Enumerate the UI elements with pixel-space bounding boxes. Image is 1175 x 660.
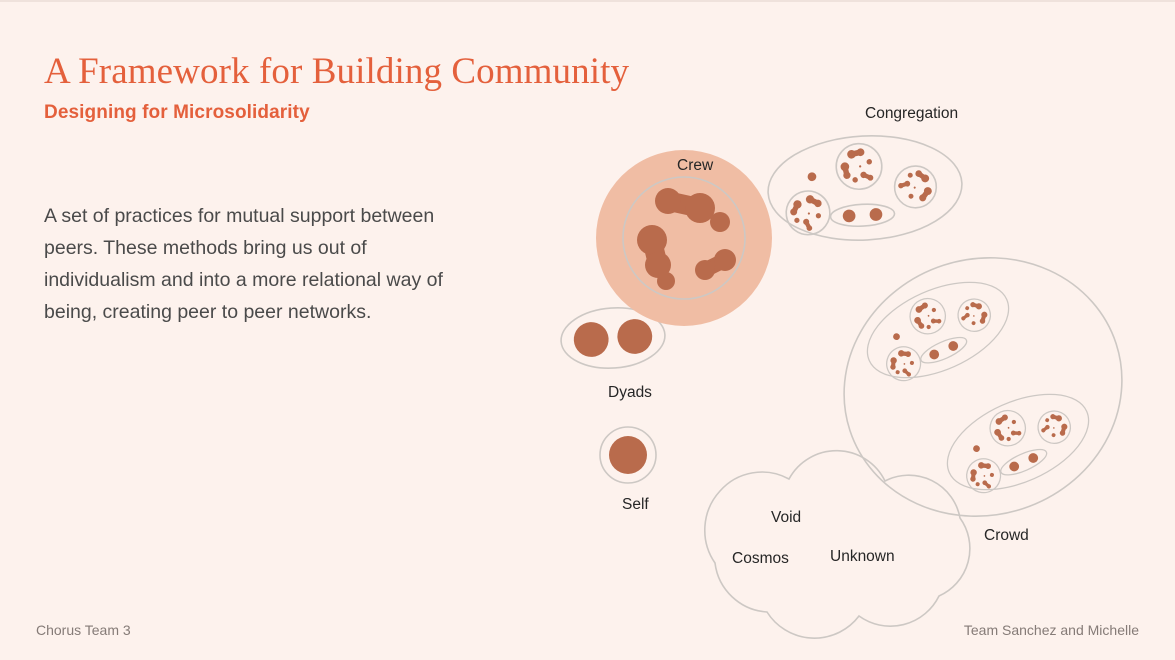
member-dot xyxy=(983,475,985,477)
member-dot xyxy=(1045,418,1050,423)
member-dot xyxy=(975,482,980,487)
member-pair xyxy=(1049,412,1063,423)
void-cloud-group xyxy=(705,451,970,638)
member-dot xyxy=(975,302,983,310)
crew-unit xyxy=(835,142,883,190)
slide-heading-block: A Framework for Building Community Desig… xyxy=(44,52,514,124)
member-pair xyxy=(897,349,911,360)
member-dot xyxy=(965,306,970,311)
member-dot xyxy=(869,208,882,221)
member-dot xyxy=(637,225,667,255)
member-dot xyxy=(573,321,610,358)
member-dot xyxy=(903,363,905,365)
member-dot xyxy=(1010,430,1017,437)
diagram-label-crew: Crew xyxy=(677,157,714,174)
member-dot xyxy=(1006,436,1012,442)
member-dot xyxy=(970,476,977,483)
member-dot xyxy=(859,165,861,167)
member-dot xyxy=(685,193,715,223)
member-dot xyxy=(866,159,872,165)
member-dot xyxy=(977,461,985,469)
crew-group xyxy=(596,150,772,326)
member-dot xyxy=(907,193,914,200)
void-cloud-outline xyxy=(705,451,970,638)
congregation-unit xyxy=(853,263,1023,398)
crew-unit xyxy=(984,405,1031,452)
diagram-label-cosmos: Cosmos xyxy=(732,550,789,567)
member-pair xyxy=(978,311,990,325)
crew-outline xyxy=(953,294,996,337)
slide-canvas: A Framework for Building Community Desig… xyxy=(0,0,1175,660)
member-dot xyxy=(905,351,912,358)
crew-unit xyxy=(1033,406,1076,449)
member-dot xyxy=(890,357,898,365)
member-dot xyxy=(985,463,992,470)
member-pair xyxy=(930,316,942,327)
diagram-label-dyads: Dyads xyxy=(608,384,652,401)
member-pair xyxy=(968,469,978,483)
dyad-outline xyxy=(830,203,895,228)
member-pair xyxy=(897,178,911,192)
diagram-label-self: Self xyxy=(622,496,649,513)
crew-unit xyxy=(883,343,925,385)
member-dot xyxy=(936,318,942,324)
footer-left: Chorus Team 3 xyxy=(36,622,131,638)
congregation-unit xyxy=(765,131,964,246)
member-dot xyxy=(807,212,810,215)
member-dot xyxy=(895,370,900,375)
member-dot xyxy=(970,469,978,477)
body-paragraph: A set of practices for mutual support be… xyxy=(44,200,469,328)
microsolidarity-diagram: CrewCongregationDyadsSelfCrowdVoidCosmos… xyxy=(540,82,1160,642)
member-dot xyxy=(609,436,647,474)
crew-outline xyxy=(886,157,945,216)
member-dot xyxy=(1027,452,1040,465)
member-dot xyxy=(930,318,937,325)
member-dot xyxy=(807,172,816,181)
member-dot xyxy=(972,444,981,453)
member-dot xyxy=(1051,433,1056,438)
member-pair xyxy=(860,171,873,181)
diagram-label-congregation: Congregation xyxy=(865,105,958,122)
member-dot xyxy=(852,177,858,183)
crew-unit xyxy=(963,455,1005,497)
member-dot xyxy=(815,212,822,219)
member-dot xyxy=(926,324,932,330)
member-pair xyxy=(1058,423,1070,437)
member-pair xyxy=(901,368,912,377)
member-dot xyxy=(842,209,855,222)
member-dot xyxy=(890,364,897,371)
member-dot xyxy=(927,315,929,317)
member-pair xyxy=(969,300,983,311)
member-pair xyxy=(981,480,992,489)
member-dot xyxy=(973,315,975,317)
diagram-label-crowd: Crowd xyxy=(984,527,1029,544)
member-pair xyxy=(1041,423,1051,434)
member-dot xyxy=(1055,414,1063,422)
member-pair xyxy=(888,357,898,371)
member-dot xyxy=(1053,427,1055,429)
congregation-group xyxy=(765,131,964,246)
page-subtitle: Designing for Microsolidarity xyxy=(44,102,514,124)
member-dot xyxy=(710,212,730,232)
member-dot xyxy=(714,249,736,271)
member-dot xyxy=(947,340,960,353)
member-dot xyxy=(1008,460,1021,473)
self-group xyxy=(600,427,656,483)
member-dot xyxy=(897,349,905,357)
member-dot xyxy=(695,260,715,280)
member-dot xyxy=(1011,419,1017,425)
member-pair xyxy=(840,162,850,179)
member-dot xyxy=(1016,430,1022,436)
member-pair xyxy=(847,148,865,159)
diagram-label-unknown: Unknown xyxy=(830,548,895,565)
crew-unit xyxy=(904,293,951,340)
member-dot xyxy=(928,348,941,361)
member-dot xyxy=(907,172,914,179)
diagram-label-void: Void xyxy=(771,509,801,526)
member-pair xyxy=(1010,428,1022,439)
member-dot xyxy=(913,186,916,189)
crew-unit xyxy=(953,294,996,337)
member-dot xyxy=(657,272,675,290)
member-dot xyxy=(1007,427,1009,429)
member-dot xyxy=(793,217,800,224)
member-dot xyxy=(655,188,681,214)
member-dot xyxy=(971,321,976,326)
member-dot xyxy=(989,472,994,477)
congregation-unit xyxy=(933,375,1103,510)
member-pair xyxy=(977,461,991,472)
crowd-group xyxy=(810,222,1155,552)
crew-unit xyxy=(777,182,838,243)
member-dot xyxy=(616,318,653,355)
member-dot xyxy=(892,332,901,341)
member-dot xyxy=(909,360,914,365)
member-dot xyxy=(931,307,937,313)
crew-unit xyxy=(886,157,945,216)
dyad-unit xyxy=(830,203,895,228)
crowd-outline xyxy=(810,222,1155,552)
member-pair xyxy=(961,311,971,322)
page-title: A Framework for Building Community xyxy=(44,52,514,92)
